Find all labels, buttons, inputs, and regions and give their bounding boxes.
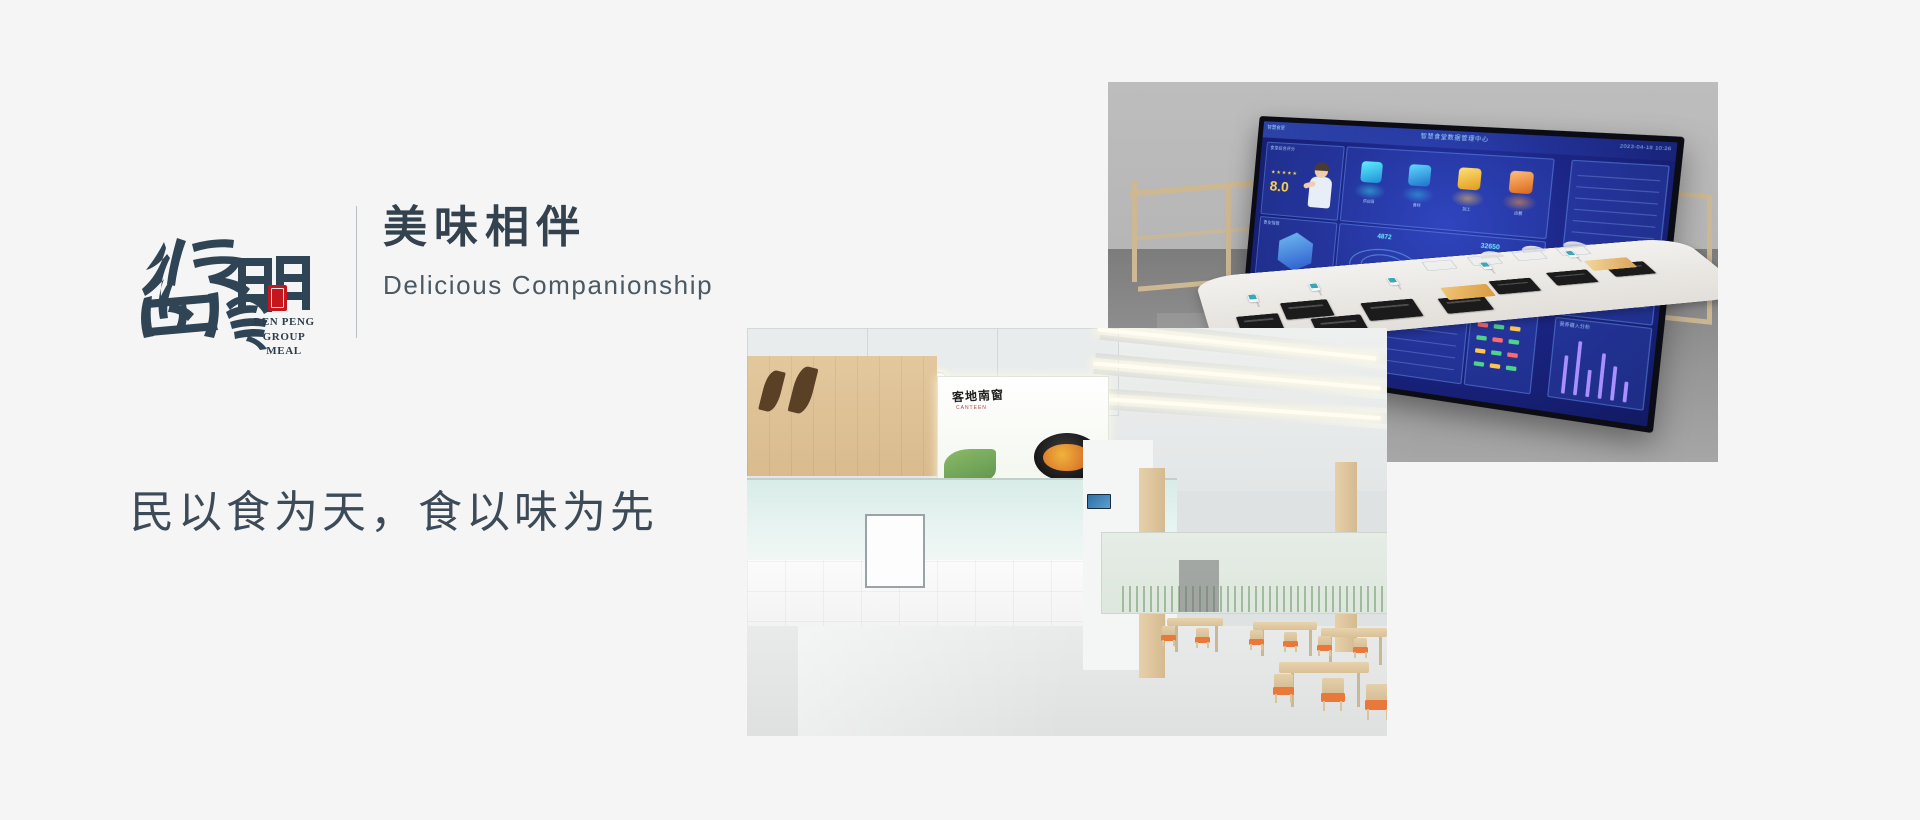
score-card-label: 食堂综合评分 (1270, 145, 1295, 153)
logo-english-text: REN PENG GROUP MEAL (248, 315, 320, 359)
dining-chair (1283, 632, 1298, 650)
process-step-3: 加工 (1449, 167, 1488, 217)
brand-text-block: REN PENG GROUP MEAL 美味相伴 Delicious Compa… (130, 200, 730, 350)
dining-chair (1365, 684, 1387, 716)
chef-avatar-icon (1305, 164, 1335, 209)
canteen-interior-photo: 客地南窗 CANTEEN (747, 328, 1387, 736)
signage-brand-text: 客地南窗 (952, 386, 1005, 406)
process-step-1: 供应商 (1353, 161, 1389, 209)
slogan-block: 美味相伴 Delicious Companionship (383, 200, 713, 301)
slogan-english: Delicious Companionship (383, 270, 713, 301)
slogan-chinese: 美味相伴 (383, 206, 713, 250)
process-step-2-label: 食材 (1400, 202, 1433, 210)
kpi-ring-1: 4872 今日就餐人数 (1352, 231, 1418, 237)
dining-chair (1317, 636, 1332, 654)
vertical-divider (356, 206, 357, 338)
process-step-1-label: 供应商 (1353, 198, 1385, 206)
dashboard-score-card: 食堂综合评分 ★★★★★ 8.0 (1260, 142, 1344, 221)
kpi-ring-1-value: 4872 (1352, 231, 1418, 243)
grass-graphic (1122, 586, 1387, 612)
kpi-ring-2: 32650 今日营业额 (1455, 241, 1526, 248)
logo-english-line-1: REN PENG (248, 315, 320, 330)
frosted-glass-partition (1101, 532, 1387, 614)
page-tagline: 民以食为天，食以味为先 (130, 476, 658, 540)
wall-tv-screen (1087, 494, 1111, 509)
dining-table (1167, 618, 1223, 626)
process-step-2: 食材 (1400, 164, 1437, 213)
process-step-4-label: 出餐 (1500, 210, 1536, 218)
company-logo: REN PENG GROUP MEAL (130, 200, 320, 350)
dining-chair (1273, 674, 1294, 700)
dining-chair (1161, 626, 1176, 644)
dining-chair (1321, 678, 1345, 708)
gauge-card-label: 食安指数 (1263, 219, 1280, 227)
logo-english-line-2: GROUP (248, 330, 320, 345)
signage-sub-text: CANTEEN (956, 405, 987, 411)
dining-chair (1249, 630, 1264, 648)
rating-stars-icon: ★★★★★ (1271, 169, 1298, 177)
dashboard-logo-text: 智慧食堂 (1267, 124, 1285, 131)
logo-english-line-3: MEAL (248, 344, 320, 359)
process-step-3-label: 加工 (1449, 206, 1483, 214)
hexagon-gauge-icon (1277, 231, 1314, 273)
red-seal-icon (268, 285, 287, 311)
score-value: 8.0 (1269, 177, 1290, 195)
marketing-banner: REN PENG GROUP MEAL 美味相伴 Delicious Compa… (0, 0, 1920, 820)
dining-table (1253, 622, 1317, 630)
process-step-4: 出餐 (1500, 170, 1540, 221)
display-shelf (1179, 560, 1219, 612)
dining-table (1279, 662, 1369, 673)
dining-chair (1195, 628, 1210, 646)
dining-hall (1083, 440, 1387, 736)
menu-board (865, 514, 925, 588)
dining-chair (1353, 638, 1368, 656)
brand-row: REN PENG GROUP MEAL 美味相伴 Delicious Compa… (130, 200, 730, 350)
